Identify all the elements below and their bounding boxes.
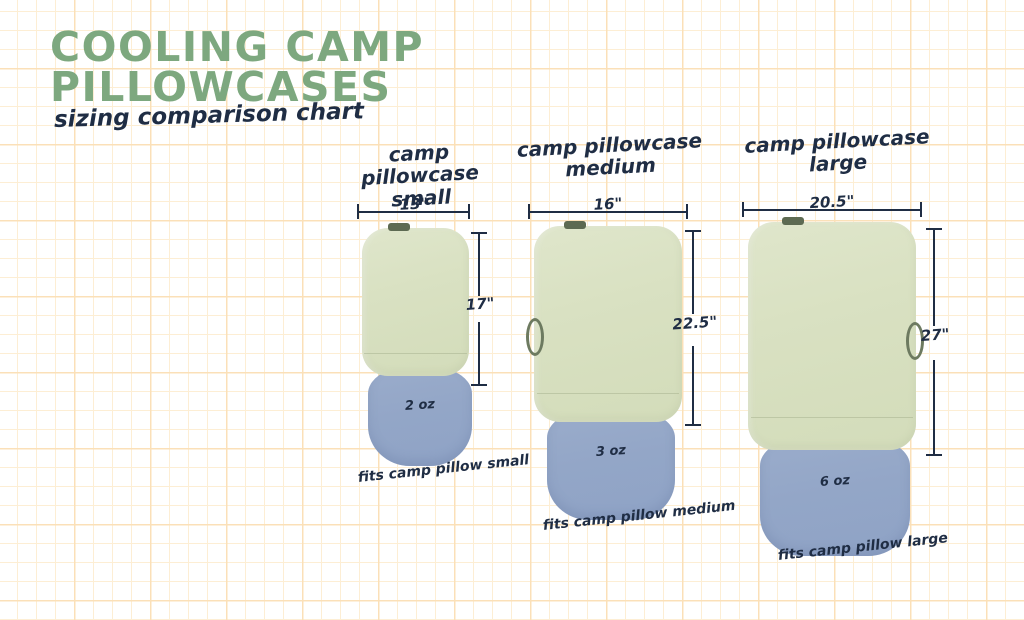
width-value-small: 13" — [394, 194, 434, 214]
weight-label-small: 2 oz — [368, 394, 473, 416]
page-title: COOLING CAMP PILLOWCASES — [50, 28, 424, 108]
height-dimension-small: 17" — [470, 232, 488, 386]
product-label-large: camp pillowcase large — [739, 125, 936, 180]
pillowcase-large — [748, 222, 916, 450]
weight-label-large: 6 oz — [760, 469, 911, 494]
hang-tab-icon — [782, 217, 804, 225]
width-dimension-small: 13" — [357, 204, 470, 220]
pillowcase-medium — [534, 226, 682, 422]
height-value-large: 27" — [920, 325, 950, 345]
pillow-medium: 3 oz — [547, 412, 675, 520]
width-dimension-medium: 16" — [528, 204, 688, 220]
product-label-medium: camp pillowcase medium — [514, 129, 706, 184]
width-value-large: 20.5" — [804, 192, 860, 213]
width-value-medium: 16" — [588, 194, 628, 214]
width-dimension-large: 20.5" — [742, 202, 922, 218]
height-value-small: 17" — [465, 294, 495, 314]
height-dimension-medium: 22.5" — [684, 230, 702, 426]
pillow-small: 2 oz — [368, 368, 472, 466]
height-value-medium: 22.5" — [672, 312, 718, 333]
pillowcase-small — [362, 228, 469, 376]
height-dimension-large: 27" — [925, 228, 943, 456]
hang-tab-icon — [564, 221, 586, 229]
hang-tab-icon — [388, 223, 410, 231]
weight-label-medium: 3 oz — [547, 440, 676, 464]
side-loop-icon — [526, 318, 544, 356]
sizing-chart-canvas: COOLING CAMP PILLOWCASES sizing comparis… — [0, 0, 1024, 620]
